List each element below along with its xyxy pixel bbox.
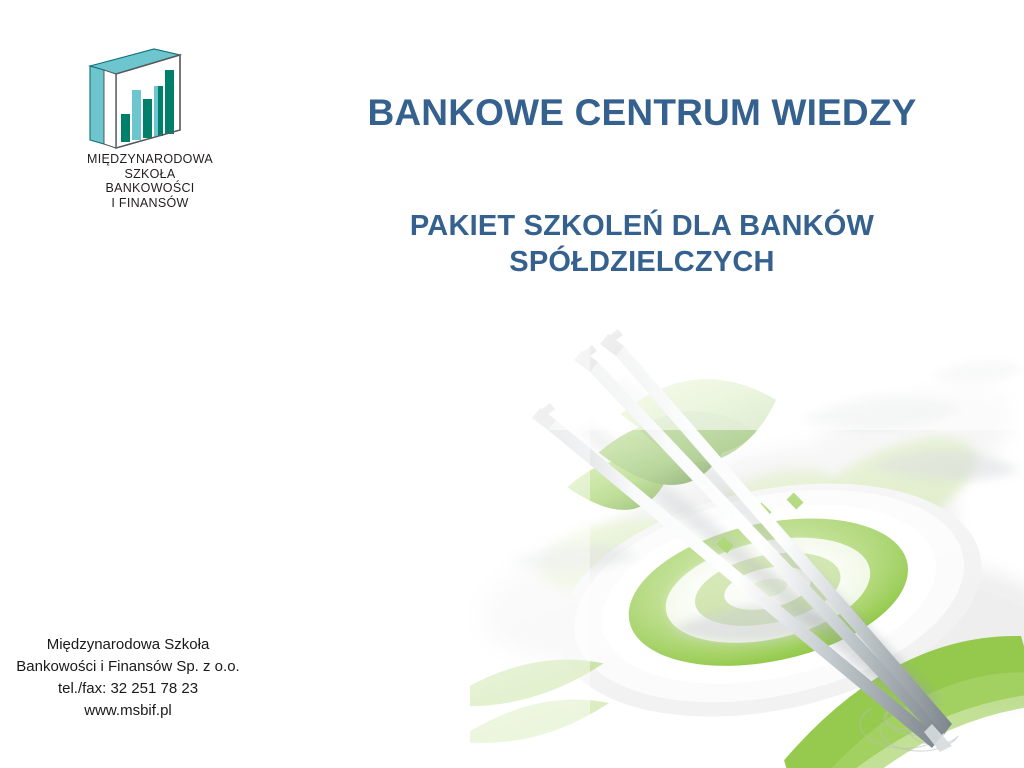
slide-canvas: MIĘDZYNARODOWA SZKOŁA BANKOWOŚCI I FINAN… xyxy=(0,0,1024,768)
three-arrows-in-target-illustration xyxy=(470,300,1024,768)
contact-line-phone: tel./fax: 32 251 78 23 xyxy=(8,678,248,700)
contact-line-website[interactable]: www.msbif.pl xyxy=(8,700,248,722)
open-book-bar-chart-icon xyxy=(80,44,190,150)
contact-block: Międzynarodowa Szkoła Bankowości i Finan… xyxy=(8,634,248,722)
contact-line-company-1: Międzynarodowa Szkoła xyxy=(8,634,248,656)
institution-logo: MIĘDZYNARODOWA SZKOŁA BANKOWOŚCI I FINAN… xyxy=(44,44,256,220)
logo-caption: MIĘDZYNARODOWA SZKOŁA BANKOWOŚCI I FINAN… xyxy=(44,152,256,210)
page-title: BANKOWE CENTRUM WIEDZY xyxy=(286,91,998,135)
contact-line-company-2: Bankowości i Finansów Sp. z o.o. xyxy=(8,656,248,678)
page-subtitle: PAKIET SZKOLEŃ DLA BANKÓW SPÓŁDZIELCZYCH xyxy=(286,208,998,280)
